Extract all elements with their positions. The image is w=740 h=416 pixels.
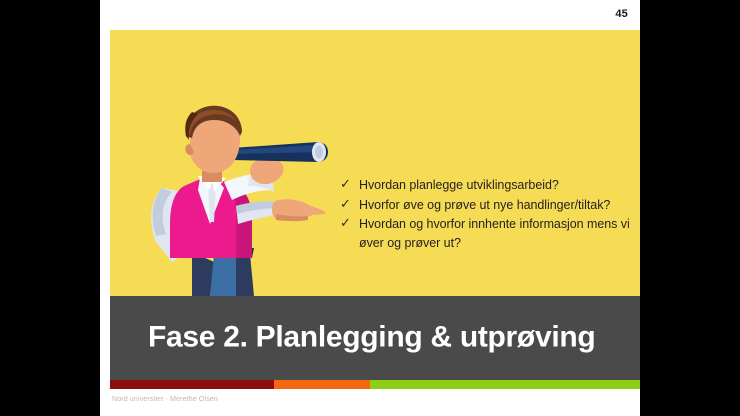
- man-with-telescope-illustration: [140, 102, 340, 296]
- slide-viewer: 45: [0, 0, 740, 416]
- checkmark-icon: ✓: [340, 196, 359, 215]
- accent-segment-green: [370, 380, 640, 389]
- bullet-item: ✓ Hvorfor øve og prøve ut nye handlinger…: [340, 196, 630, 215]
- footer-credit: Nord universitet - Merethe Olsen: [112, 396, 218, 403]
- slide-title: Fase 2. Planlegging & utprøving: [148, 320, 595, 354]
- accent-bar: [110, 380, 640, 389]
- bullet-item: ✓ Hvordan planlegge utviklingsarbeid?: [340, 176, 630, 195]
- accent-segment-dark-red: [110, 380, 274, 389]
- bullet-text: Hvordan og hvorfor innhente informasjon …: [359, 215, 630, 252]
- bullet-text: Hvordan planlegge utviklingsarbeid?: [359, 176, 630, 195]
- checkmark-icon: ✓: [340, 176, 359, 195]
- slide-page: 45: [100, 0, 640, 416]
- bullet-text: Hvorfor øve og prøve ut nye handlinger/t…: [359, 196, 630, 215]
- bullet-item: ✓ Hvordan og hvorfor innhente informasjo…: [340, 215, 630, 252]
- content-panel: ✓ Hvordan planlegge utviklingsarbeid? ✓ …: [110, 30, 640, 296]
- bullet-list: ✓ Hvordan planlegge utviklingsarbeid? ✓ …: [340, 176, 630, 253]
- accent-segment-orange: [274, 380, 369, 389]
- title-band: Fase 2. Planlegging & utprøving: [110, 296, 640, 380]
- page-number: 45: [615, 9, 628, 20]
- checkmark-icon: ✓: [340, 215, 359, 234]
